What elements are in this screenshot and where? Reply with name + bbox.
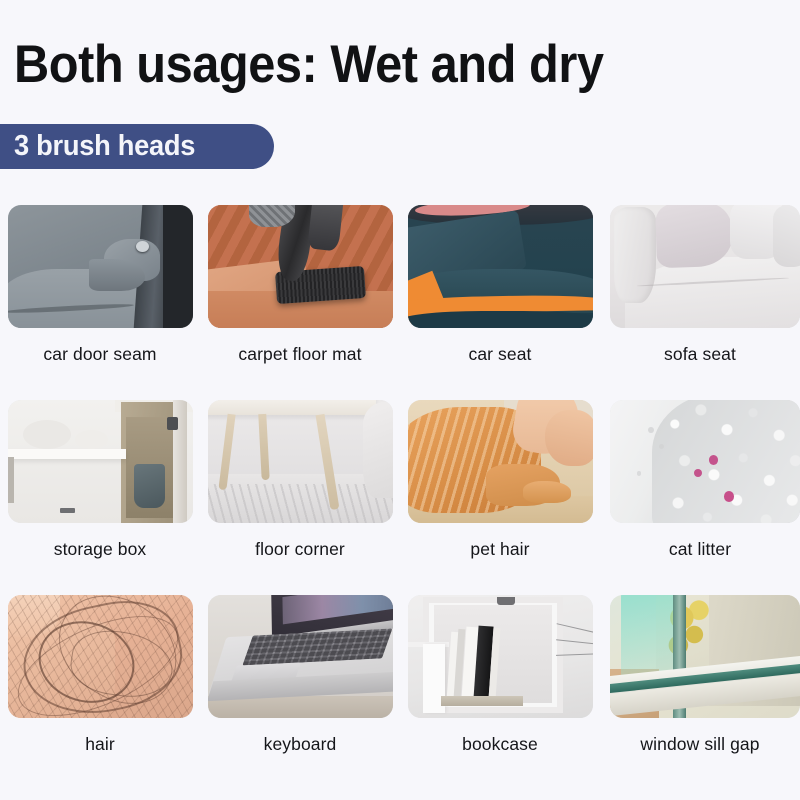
status-badge: 3 brush heads — [0, 124, 274, 169]
usage-scenario-label: car seat — [400, 344, 600, 365]
thumbnail-artwork — [408, 400, 593, 523]
artwork-shape — [134, 464, 165, 508]
window-sill-gap-photo — [610, 595, 800, 718]
usage-scenario-label: keyboard — [200, 734, 400, 755]
usage-scenario-label: sofa seat — [600, 344, 800, 365]
usage-scenario-cell: storage box — [0, 391, 200, 586]
artwork-shape — [363, 402, 393, 498]
artwork-shape — [89, 259, 145, 291]
usage-scenario-cell: floor corner — [200, 391, 400, 586]
usage-scenario-cell: pet hair — [400, 391, 600, 586]
artwork-shape — [60, 508, 75, 513]
cat-litter-photo — [610, 400, 800, 523]
usage-scenario-cell: bookcase — [400, 586, 600, 781]
artwork-shape — [408, 311, 593, 328]
usage-scenario-label: car door seam — [0, 344, 200, 365]
bookcase-photo — [408, 595, 593, 718]
usage-scenario-label: bookcase — [400, 734, 600, 755]
thumbnail-artwork — [610, 595, 800, 718]
car-door-seam-photo — [8, 205, 193, 328]
artwork-shape — [773, 205, 800, 267]
usage-scenario-label: cat litter — [600, 539, 800, 560]
artwork-shape — [208, 400, 376, 415]
usage-scenario-label: storage box — [0, 539, 200, 560]
hair-photo — [8, 595, 193, 718]
artwork-shape — [637, 471, 642, 476]
artwork-shape — [441, 696, 522, 706]
carpet-floor-mat-photo — [208, 205, 393, 328]
artwork-shape — [23, 420, 71, 450]
usage-scenario-label: window sill gap — [600, 734, 800, 755]
usage-scenario-grid: car door seamcarpet floor matcar seatsof… — [0, 196, 800, 781]
artwork-shape — [652, 400, 800, 523]
thumbnail-artwork — [208, 595, 393, 718]
product-feature-page: Both usages: Wet and dry 3 brush heads c… — [0, 0, 800, 800]
artwork-shape — [167, 417, 178, 429]
usage-scenario-label: hair — [0, 734, 200, 755]
artwork-shape — [614, 207, 656, 303]
thumbnail-artwork — [208, 205, 393, 328]
artwork-shape — [136, 241, 149, 252]
usage-scenario-cell: car door seam — [0, 196, 200, 391]
artwork-shape — [497, 597, 516, 604]
usage-scenario-label: pet hair — [400, 539, 600, 560]
pet-hair-photo — [408, 400, 593, 523]
usage-scenario-cell: window sill gap — [600, 586, 800, 781]
artwork-shape — [556, 653, 593, 656]
sofa-seat-photo — [610, 205, 800, 328]
car-seat-photo — [408, 205, 593, 328]
usage-scenario-cell: cat litter — [600, 391, 800, 586]
artwork-shape — [208, 484, 393, 523]
thumbnail-artwork — [208, 400, 393, 523]
usage-scenario-label: floor corner — [200, 539, 400, 560]
thumbnail-artwork — [610, 400, 800, 523]
usage-scenario-cell: sofa seat — [600, 196, 800, 391]
status-badge-label: 3 brush heads — [14, 130, 195, 163]
thumbnail-artwork — [8, 400, 193, 523]
artwork-shape — [258, 413, 270, 480]
artwork-shape — [648, 427, 654, 433]
keyboard-photo — [208, 595, 393, 718]
artwork-shape — [8, 595, 193, 718]
floor-corner-photo — [208, 400, 393, 523]
artwork-shape — [163, 205, 193, 328]
artwork-shape — [8, 449, 126, 459]
page-title: Both usages: Wet and dry — [14, 34, 604, 96]
thumbnail-artwork — [8, 205, 193, 328]
artwork-shape — [523, 481, 571, 503]
usage-scenario-cell: car seat — [400, 196, 600, 391]
artwork-shape — [75, 430, 108, 450]
thumbnail-artwork — [408, 595, 593, 718]
thumbnail-artwork — [408, 205, 593, 328]
thumbnail-artwork — [610, 205, 800, 328]
artwork-shape — [307, 205, 344, 251]
thumbnail-artwork — [8, 595, 193, 718]
artwork-shape — [8, 457, 14, 504]
usage-scenario-cell: keyboard — [200, 586, 400, 781]
artwork-shape — [545, 410, 593, 467]
usage-scenario-label: carpet floor mat — [200, 344, 400, 365]
storage-box-photo — [8, 400, 193, 523]
usage-scenario-cell: hair — [0, 586, 200, 781]
usage-scenario-cell: carpet floor mat — [200, 196, 400, 391]
artwork-shape — [655, 205, 733, 268]
